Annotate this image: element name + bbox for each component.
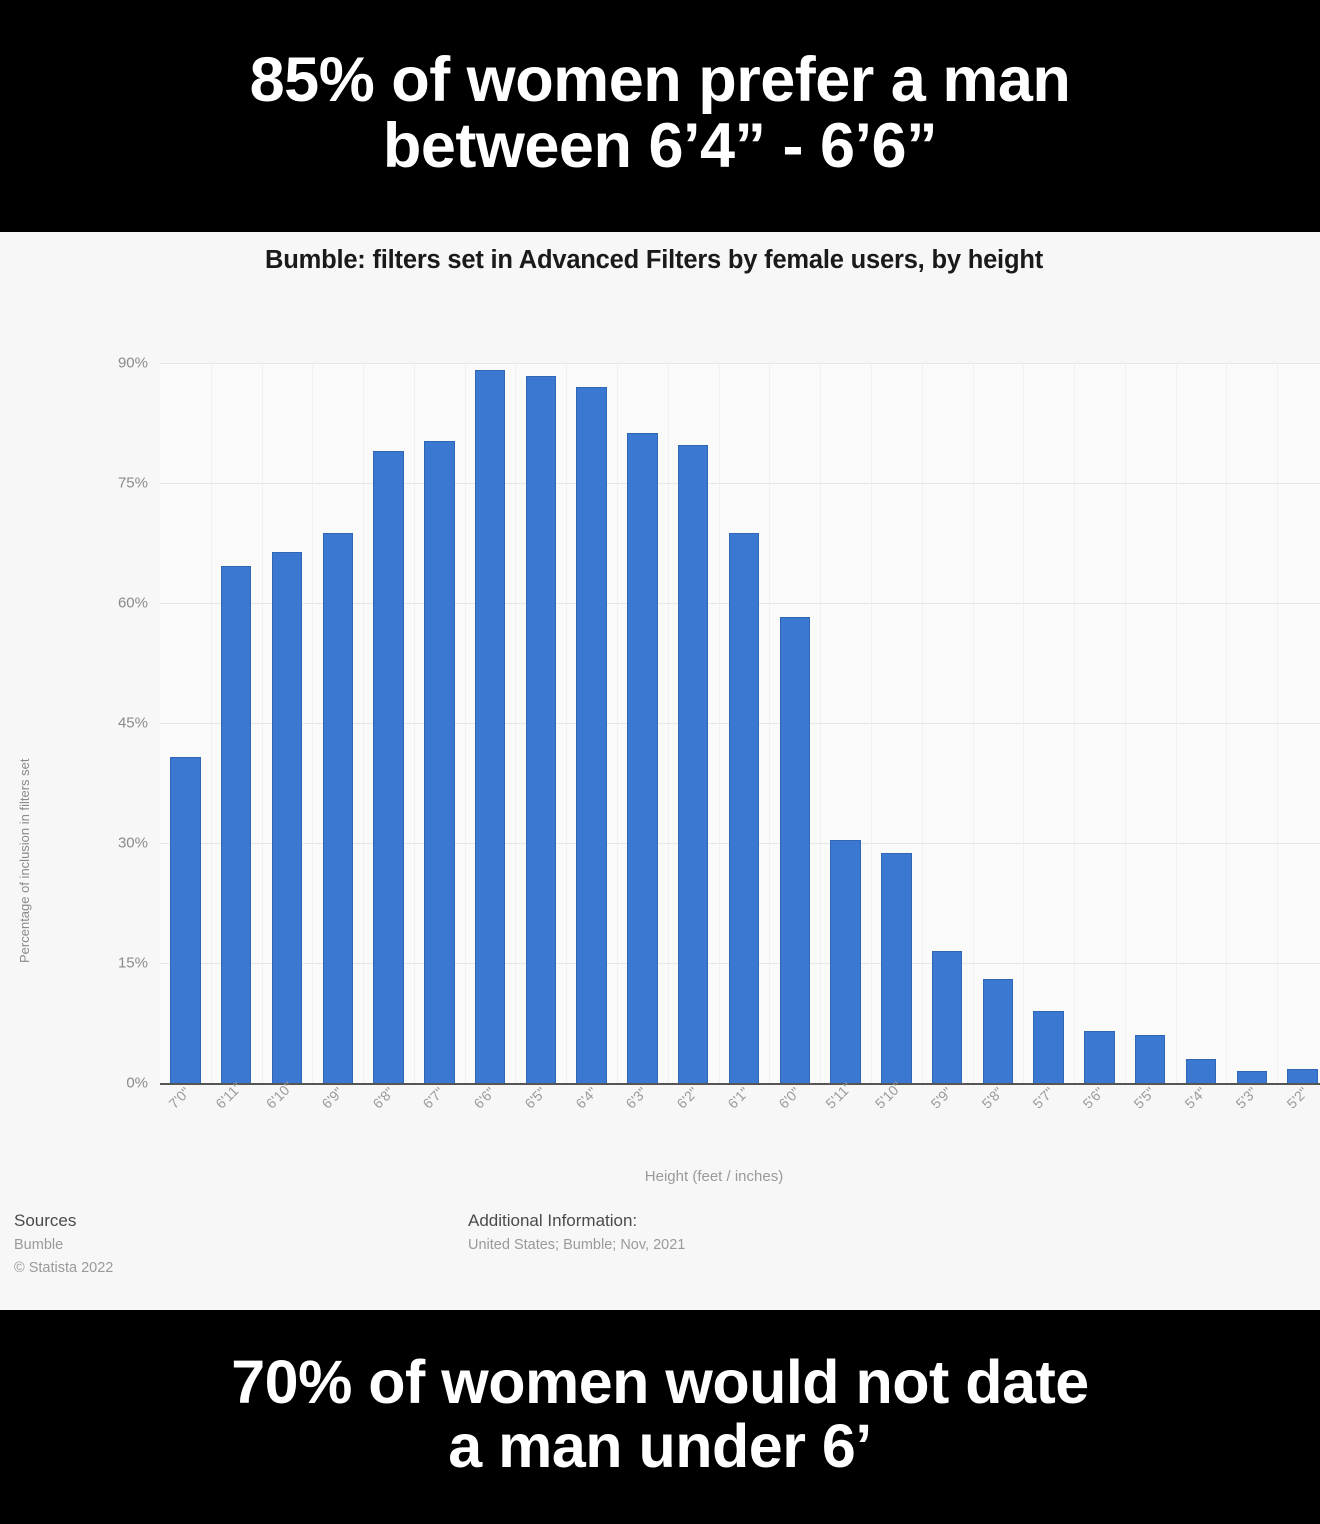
x-tick-slot: 5'10"	[871, 1090, 922, 1160]
bar[interactable]	[272, 552, 302, 1083]
sources-block: Sources Bumble © Statista 2022	[14, 1208, 113, 1279]
x-tick-slot: 6'2"	[668, 1090, 719, 1160]
bar-slot[interactable]	[617, 363, 668, 1083]
bar[interactable]	[170, 757, 200, 1083]
additional-info-heading: Additional Information:	[468, 1208, 685, 1234]
chart-title: Bumble: filters set in Advanced Filters …	[0, 246, 1320, 275]
y-tick-label: 90%	[0, 355, 148, 372]
x-tick-slot: 6'3"	[617, 1090, 668, 1160]
bar[interactable]	[1033, 1011, 1063, 1083]
bar[interactable]	[830, 840, 860, 1083]
x-tick-label: 5'2"	[1283, 1084, 1311, 1112]
x-tick-label: 5'9"	[928, 1084, 956, 1112]
bar[interactable]	[1237, 1071, 1267, 1083]
bar[interactable]	[932, 951, 962, 1083]
bar[interactable]	[627, 433, 657, 1083]
bar-slot[interactable]	[1277, 363, 1320, 1083]
bar-slot[interactable]	[363, 363, 414, 1083]
bar[interactable]	[576, 387, 606, 1083]
bar[interactable]	[475, 370, 505, 1083]
additional-info-text: United States; Bumble; Nov, 2021	[468, 1234, 685, 1256]
bar-slot[interactable]	[922, 363, 973, 1083]
y-tick-label: 60%	[0, 595, 148, 612]
x-tick-label: 6'2"	[674, 1084, 702, 1112]
x-tick-slot: 6'6"	[465, 1090, 516, 1160]
bar-slot[interactable]	[262, 363, 313, 1083]
x-tick-label: 5'4"	[1181, 1084, 1209, 1112]
bar-slot[interactable]	[160, 363, 211, 1083]
x-tick-slot: 6'0"	[769, 1090, 820, 1160]
x-tick-label: 6'0"	[775, 1084, 803, 1112]
bar-slot[interactable]	[871, 363, 922, 1083]
x-tick-slot: 5'3"	[1226, 1090, 1277, 1160]
bar[interactable]	[1287, 1069, 1317, 1083]
x-tick-slot: 5'9"	[922, 1090, 973, 1160]
x-tick-slot: 6'10"	[262, 1090, 313, 1160]
bottom-caption-banner: 70% of women would not date a man under …	[0, 1310, 1320, 1524]
x-tick-label: 5'3"	[1232, 1084, 1260, 1112]
bar[interactable]	[729, 533, 759, 1083]
bar[interactable]	[323, 533, 353, 1083]
bar-slot[interactable]	[566, 363, 617, 1083]
bar-slot[interactable]	[1074, 363, 1125, 1083]
x-tick-label: 6'1"	[724, 1084, 752, 1112]
top-caption-banner: 85% of women prefer a man between 6’4” -…	[0, 0, 1320, 232]
x-axis-label: Height (feet / inches)	[160, 1168, 1320, 1185]
bottom-caption-line-2: a man under 6’	[448, 1414, 872, 1478]
x-tick-slot: 5'5"	[1125, 1090, 1176, 1160]
sources-name: Bumble	[14, 1234, 113, 1256]
bar-slot[interactable]	[312, 363, 363, 1083]
x-tick-slot: 5'4"	[1176, 1090, 1227, 1160]
bar-series	[160, 363, 1320, 1083]
x-tick-slot: 6'8"	[363, 1090, 414, 1160]
additional-info-block: Additional Information: United States; B…	[468, 1208, 685, 1257]
bar-slot[interactable]	[1226, 363, 1277, 1083]
y-axis-ticks: 90%75%60%45%30%15%0%	[0, 363, 148, 1083]
bar-slot[interactable]	[211, 363, 262, 1083]
x-tick-label: 6'5"	[521, 1084, 549, 1112]
bottom-caption-line-1: 70% of women would not date	[231, 1350, 1088, 1414]
x-tick-slot: 5'6"	[1074, 1090, 1125, 1160]
x-tick-slot: 5'11"	[820, 1090, 871, 1160]
x-tick-label: 5'8"	[978, 1084, 1006, 1112]
bar[interactable]	[1084, 1031, 1114, 1083]
x-tick-slot: 6'11"	[211, 1090, 262, 1160]
x-tick-label: 6'6"	[470, 1084, 498, 1112]
bar-slot[interactable]	[1023, 363, 1074, 1083]
statista-chart-card: Bumble: filters set in Advanced Filters …	[0, 232, 1320, 1310]
bar-slot[interactable]	[414, 363, 465, 1083]
bar-slot[interactable]	[515, 363, 566, 1083]
bar-slot[interactable]	[465, 363, 516, 1083]
x-tick-label: 6'3"	[623, 1084, 651, 1112]
top-caption-line-1: 85% of women prefer a man	[250, 47, 1071, 113]
x-tick-slot: 7'0"	[160, 1090, 211, 1160]
y-tick-label: 75%	[0, 475, 148, 492]
bar-slot[interactable]	[769, 363, 820, 1083]
x-tick-slot: 6'5"	[515, 1090, 566, 1160]
x-tick-label: 5'7"	[1029, 1084, 1057, 1112]
bar-slot[interactable]	[820, 363, 871, 1083]
bar[interactable]	[1135, 1035, 1165, 1083]
x-tick-label: 6'8"	[369, 1084, 397, 1112]
bar-slot[interactable]	[719, 363, 770, 1083]
card-footer: Sources Bumble © Statista 2022 Additiona…	[0, 1200, 1320, 1310]
bar[interactable]	[1186, 1059, 1216, 1083]
bar[interactable]	[526, 376, 556, 1083]
y-tick-label: 30%	[0, 835, 148, 852]
bar[interactable]	[983, 979, 1013, 1083]
y-tick-label: 15%	[0, 955, 148, 972]
bar-slot[interactable]	[668, 363, 719, 1083]
x-tick-slot: 5'8"	[973, 1090, 1024, 1160]
x-tick-label: 5'5"	[1131, 1084, 1159, 1112]
bar-slot[interactable]	[1125, 363, 1176, 1083]
sources-heading: Sources	[14, 1208, 113, 1234]
x-tick-label: 6'7"	[420, 1084, 448, 1112]
bar-slot[interactable]	[1176, 363, 1227, 1083]
bar[interactable]	[678, 445, 708, 1083]
bar[interactable]	[780, 617, 810, 1083]
x-tick-label: 6'4"	[572, 1084, 600, 1112]
x-tick-slot: 6'4"	[566, 1090, 617, 1160]
copyright-text: © Statista 2022	[14, 1257, 113, 1279]
x-tick-slot: 5'7"	[1023, 1090, 1074, 1160]
x-tick-slot: 6'1"	[719, 1090, 770, 1160]
bar-slot[interactable]	[973, 363, 1024, 1083]
x-tick-label: 6'9"	[318, 1084, 346, 1112]
y-tick-label: 0%	[0, 1075, 148, 1092]
x-tick-label: 7'0"	[166, 1084, 194, 1112]
x-tick-label: 5'6"	[1080, 1084, 1108, 1112]
x-tick-slot: 5'2"	[1277, 1090, 1320, 1160]
y-tick-label: 45%	[0, 715, 148, 732]
bar[interactable]	[424, 441, 454, 1083]
bar[interactable]	[881, 853, 911, 1083]
bar[interactable]	[373, 451, 403, 1083]
top-caption-line-2: between 6’4” - 6’6”	[383, 113, 937, 179]
bar[interactable]	[221, 566, 251, 1083]
x-axis-ticks: 7'0"6'11"6'10"6'9"6'8"6'7"6'6"6'5"6'4"6'…	[160, 1090, 1320, 1160]
x-tick-slot: 6'7"	[414, 1090, 465, 1160]
x-tick-slot: 6'9"	[312, 1090, 363, 1160]
